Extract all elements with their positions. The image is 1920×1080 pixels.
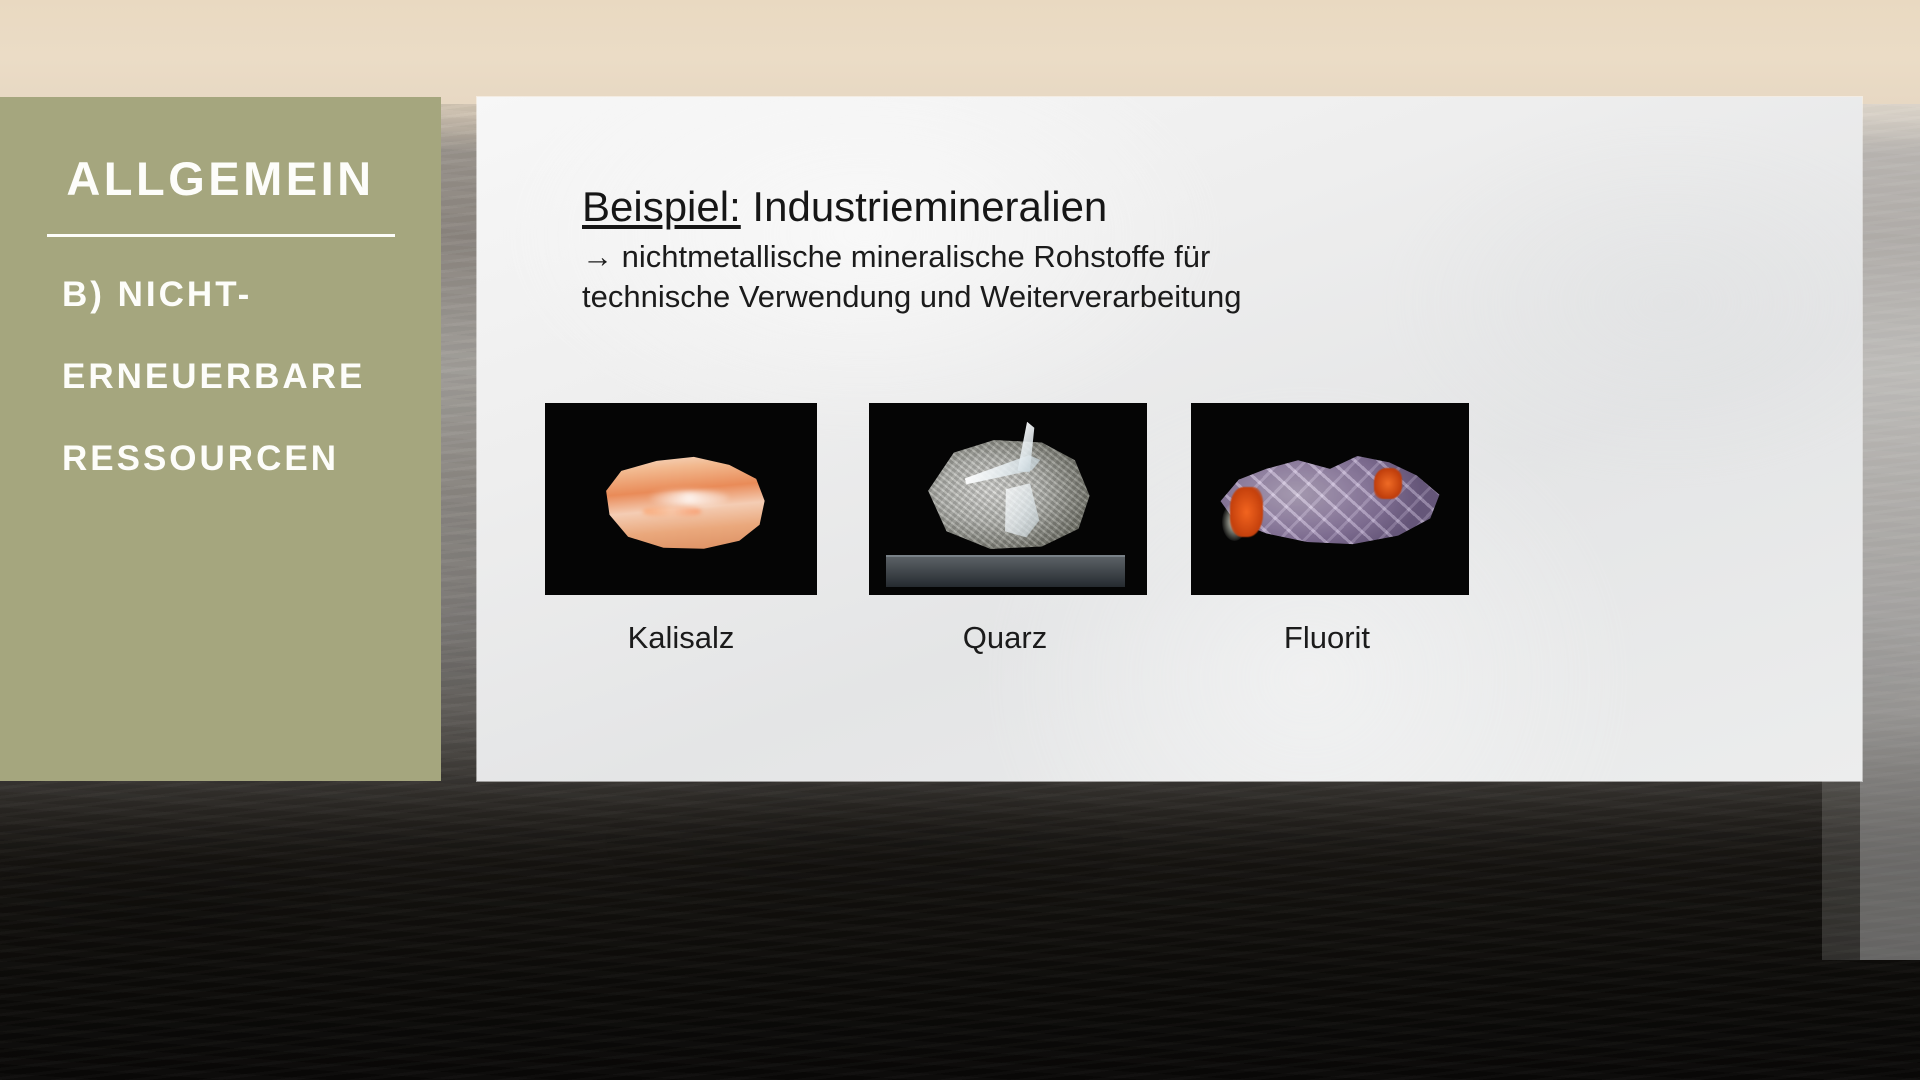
- fluorit-photo: [1191, 403, 1469, 595]
- figure-caption-kalisalz: Kalisalz: [545, 620, 817, 656]
- sidebar-divider: [47, 234, 395, 237]
- content-heading: Beispiel: Industriemineralien: [582, 185, 1862, 229]
- halite-crystal-shape: [599, 453, 768, 553]
- fluorit-orange-inclusion-1: [1230, 487, 1263, 537]
- figure-kalisalz: Kalisalz: [545, 403, 817, 656]
- quarz-display-stand: [886, 555, 1125, 588]
- background-right-overlay: [1860, 104, 1920, 960]
- fluorit-orange-inclusion-2: [1374, 468, 1402, 499]
- content-heading-label: Beispiel:: [582, 183, 741, 230]
- figure-caption-fluorit: Fluorit: [1191, 620, 1463, 656]
- quarz-photo: [869, 403, 1147, 595]
- halite-banding: [643, 507, 700, 516]
- content-body: → nichtmetallische mineralische Rohstoff…: [582, 237, 1342, 316]
- background-sky: [0, 0, 1920, 104]
- quarz-rock-texture: [913, 430, 1096, 557]
- mineral-figure-row: Kalisalz Quarz: [545, 403, 1810, 656]
- figure-quarz: Quarz: [869, 403, 1141, 656]
- slide-sidebar: ALLGEMEIN B) NICHT- ERNEUERBARE RESSOURC…: [0, 97, 441, 781]
- slide-content-panel: Beispiel: Industriemineralien → nichtmet…: [477, 97, 1862, 781]
- sidebar-subtitle-line-1: B) NICHT-: [62, 277, 401, 312]
- figure-fluorit: Fluorit: [1191, 403, 1463, 656]
- presentation-slide: ALLGEMEIN B) NICHT- ERNEUERBARE RESSOURC…: [0, 0, 1920, 1080]
- panel-content: Beispiel: Industriemineralien → nichtmet…: [477, 97, 1862, 316]
- content-body-line-2: technische Verwendung und Weiterverarbei…: [582, 277, 1342, 317]
- sidebar-subtitle-line-2: ERNEUERBARE: [62, 359, 401, 394]
- sidebar-subtitle: B) NICHT- ERNEUERBARE RESSOURCEN: [40, 277, 401, 476]
- figure-caption-quarz: Quarz: [869, 620, 1141, 656]
- quarz-host-rock: [913, 430, 1096, 557]
- halite-highlight: [650, 491, 728, 505]
- content-heading-subject: Industriemineralien: [741, 183, 1108, 230]
- content-body-line-1: → nichtmetallische mineralische Rohstoff…: [582, 237, 1342, 277]
- sidebar-title: ALLGEMEIN: [40, 153, 401, 205]
- kalisalz-photo: [545, 403, 817, 595]
- sidebar-subtitle-line-3: RESSOURCEN: [62, 441, 401, 476]
